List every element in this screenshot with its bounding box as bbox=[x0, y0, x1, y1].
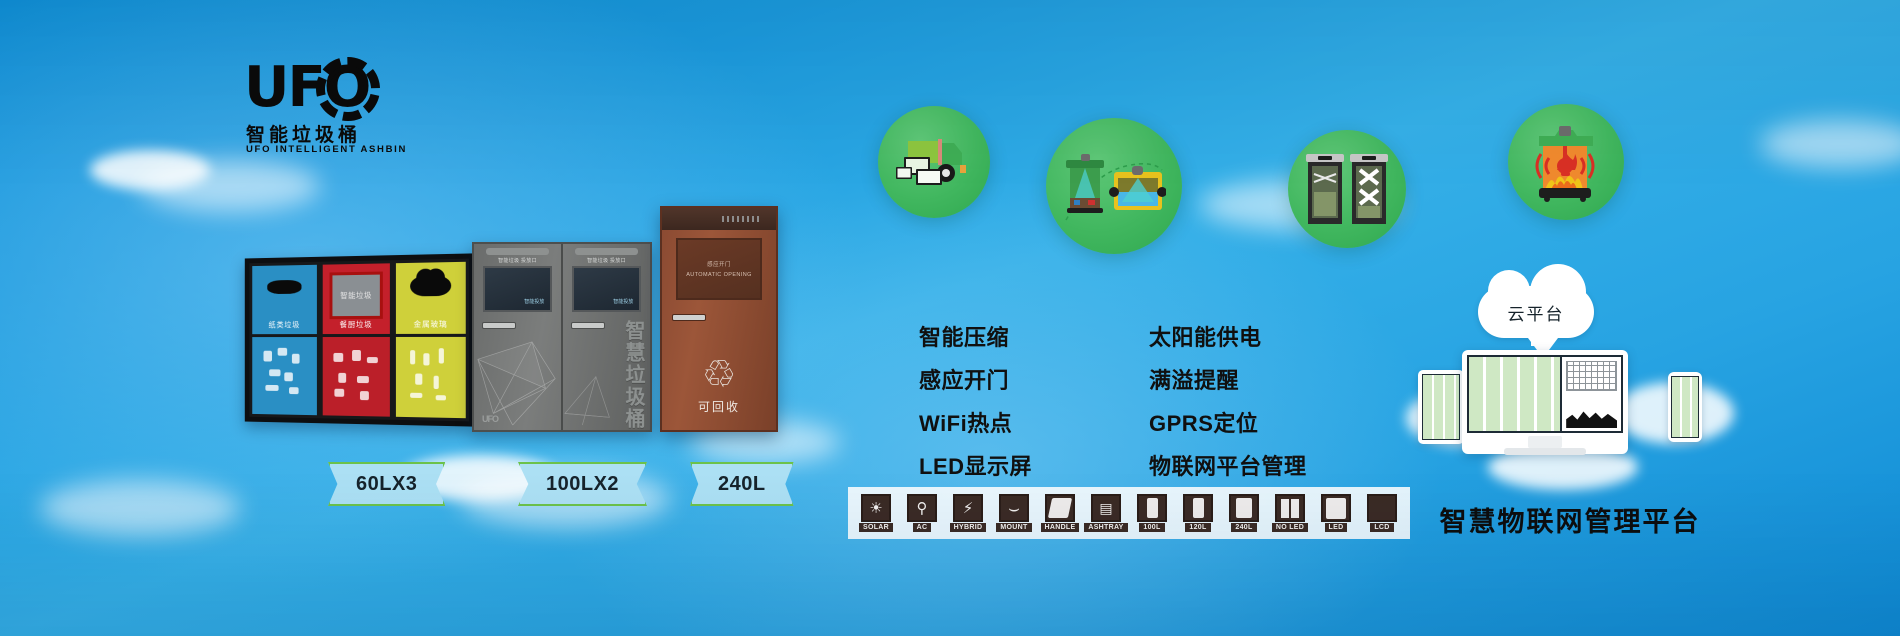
capacity-banner-60lx3: 60LX3 bbox=[328, 462, 445, 506]
bin-cap bbox=[486, 248, 549, 255]
compartment-label: 餐厨垃圾 bbox=[323, 319, 390, 330]
spec-icon-strip: ☀ SOLAR ⚲ AC ⚡ HYBRID ⌣ MOUNT HANDLE ▤ A… bbox=[848, 487, 1410, 539]
garbage-truck-and-devices-icon bbox=[894, 131, 974, 193]
feature-label: 物联网平台管理 bbox=[1149, 449, 1307, 481]
logo-chinese-name: 智能垃圾桶 bbox=[246, 120, 361, 147]
twin-bin-compaction-icon bbox=[1304, 150, 1390, 228]
bin-handle bbox=[672, 314, 706, 321]
bin-cap bbox=[575, 248, 638, 255]
wall-mount-icon: ⌣ bbox=[1008, 499, 1020, 517]
feature-item: 感应开门 bbox=[884, 363, 1032, 395]
spec-icon-ac: ⚲ AC bbox=[902, 494, 942, 532]
spec-icon-label: AC bbox=[913, 523, 932, 532]
waste-glyphs bbox=[323, 337, 390, 417]
bin-display: 智能投放 bbox=[483, 266, 553, 312]
bin-micro-label: 智能垃圾 投放口 bbox=[563, 257, 650, 264]
sun-icon: ☀ bbox=[869, 501, 882, 516]
bin-half-right: 智能垃圾 投放口 智能投放 智慧垃圾桶 bbox=[563, 244, 650, 430]
spec-icon-no-led: NO LED bbox=[1270, 494, 1310, 532]
spec-icon-label: SOLAR bbox=[859, 523, 893, 532]
monitor-icon bbox=[1114, 414, 1133, 431]
spec-icon-120l: 120L bbox=[1178, 494, 1218, 532]
fire-alarm-bin-icon bbox=[1527, 122, 1605, 202]
spec-icon-led: LED bbox=[1316, 494, 1356, 532]
spec-icon-label: MOUNT bbox=[996, 523, 1031, 532]
capacity-label: 240L bbox=[718, 473, 766, 496]
ashtray-icon: ▤ bbox=[1099, 501, 1112, 515]
spec-icon-label: 100L bbox=[1139, 523, 1164, 532]
bin-display-text: 智能投放 bbox=[524, 298, 544, 305]
product-bin-double: 智能垃圾 投放口 智能投放 UFO 智能垃圾 投放口 bbox=[472, 242, 652, 432]
spec-icon-label: LCD bbox=[1370, 523, 1393, 532]
cloud-decor bbox=[90, 150, 210, 190]
monitor-device bbox=[1462, 350, 1628, 454]
feature-label: 智能压缩 bbox=[919, 320, 1009, 352]
feature-label: WiFi热点 bbox=[919, 406, 1012, 438]
feature-column-left: 智能压缩 感应开门 WiFi热点 LED显示屏 bbox=[884, 320, 1032, 481]
platform-title: 智慧物联网管理平台 bbox=[1400, 500, 1740, 539]
bin-top-bar bbox=[662, 208, 776, 230]
feature-list: 智能压缩 感应开门 WiFi热点 LED显示屏 太阳能供电 满溢提醒 bbox=[884, 320, 1307, 481]
compartment-label: 纸类垃圾 bbox=[252, 319, 317, 330]
brand-logo: UFO 智能垃圾桶 UFO INTELLIGENT ASHBIN bbox=[244, 60, 404, 162]
handle-icon bbox=[1048, 498, 1072, 518]
waste-glyphs bbox=[396, 337, 466, 418]
feature-circle-fill-level bbox=[1046, 118, 1182, 254]
hybrid-power-icon: ⚡ bbox=[963, 501, 974, 516]
feature-label: LED显示屏 bbox=[919, 449, 1032, 481]
monitor-icon bbox=[884, 457, 903, 474]
grill-icon bbox=[722, 216, 762, 222]
feature-item: 物联网平台管理 bbox=[1114, 449, 1307, 481]
cloud-icon: 云平台 bbox=[1478, 286, 1594, 338]
spec-icon-label: LED bbox=[1325, 523, 1348, 532]
spec-icon-label: 120L bbox=[1185, 523, 1210, 532]
feature-item: GPRS定位 bbox=[1114, 406, 1307, 438]
spec-icon-lcd: LCD bbox=[1362, 494, 1402, 532]
feature-circle-fleet bbox=[878, 106, 990, 218]
spec-icon-label: NO LED bbox=[1272, 523, 1308, 532]
compartment-screen-text: 智能垃圾 bbox=[340, 290, 372, 301]
oval-slot-icon bbox=[267, 280, 302, 294]
cloud-decor bbox=[40, 480, 240, 536]
feature-label: 太阳能供电 bbox=[1149, 320, 1262, 352]
bin-compartment-paper: 纸类垃圾 bbox=[252, 265, 317, 415]
bin-compartment-kitchen: 智能垃圾 餐厨垃圾 bbox=[323, 263, 390, 416]
compartment-screen: 智能垃圾 bbox=[329, 272, 383, 319]
cloud-decor bbox=[1760, 120, 1900, 168]
promo-banner: UFO 智能垃圾桶 UFO INTELLIGENT ASHBIN 纸类垃圾 bbox=[0, 0, 1900, 636]
feature-item: 满溢提醒 bbox=[1114, 363, 1307, 395]
monitor-icon bbox=[884, 414, 903, 431]
phone-device bbox=[1668, 372, 1702, 442]
feature-label: GPRS定位 bbox=[1149, 406, 1258, 438]
cloud-platform-illustration: 云平台 bbox=[1418, 286, 1718, 486]
capacity-label: 60LX3 bbox=[356, 473, 417, 496]
monitor-icon bbox=[1114, 457, 1133, 474]
feature-item: WiFi热点 bbox=[884, 406, 1032, 438]
bin-100l-icon bbox=[1147, 498, 1158, 518]
logo-english-tagline: UFO INTELLIGENT ASHBIN bbox=[246, 144, 407, 155]
capacity-label: 100LX2 bbox=[546, 473, 619, 496]
bin-screen-line2: AUTOMATIC OPENING bbox=[686, 272, 752, 278]
recycle-label: 可回收 bbox=[662, 398, 776, 415]
bin-240l-icon bbox=[1236, 498, 1252, 518]
feature-item: 太阳能供电 bbox=[1114, 320, 1307, 352]
map-view bbox=[1469, 357, 1560, 431]
no-led-icon bbox=[1281, 499, 1299, 518]
spec-icon-label: HANDLE bbox=[1041, 523, 1080, 532]
bin-fill-sensor-icon bbox=[1062, 148, 1166, 224]
feature-circle-fire-alarm bbox=[1508, 104, 1624, 220]
cloud-decor bbox=[140, 160, 320, 212]
spec-icon-handle: HANDLE bbox=[1040, 494, 1080, 532]
tablet-device bbox=[1418, 370, 1464, 444]
bin-screen-line1: 感应开门 bbox=[707, 260, 731, 268]
spec-icon-ashtray: ▤ ASHTRAY bbox=[1086, 494, 1126, 532]
spec-icon-hybrid: ⚡ HYBRID bbox=[948, 494, 988, 532]
bin-half-left: 智能垃圾 投放口 智能投放 UFO bbox=[474, 244, 563, 430]
monitor-icon bbox=[1114, 371, 1133, 388]
feature-item: 智能压缩 bbox=[884, 320, 1032, 352]
bin-compartment-metal-glass: 金属玻璃 bbox=[396, 262, 466, 418]
capacity-banner-100lx2: 100LX2 bbox=[518, 462, 647, 506]
waste-glyphs bbox=[252, 337, 317, 415]
spec-icon-solar: ☀ SOLAR bbox=[856, 494, 896, 532]
monitor-icon bbox=[884, 371, 903, 388]
feature-column-right: 太阳能供电 满溢提醒 GPRS定位 物联网平台管理 bbox=[1114, 320, 1307, 481]
capacity-banner-240l: 240L bbox=[690, 462, 794, 506]
product-bin-brown: 感应开门 AUTOMATIC OPENING ♲ 可回收 bbox=[660, 206, 778, 432]
recycle-icon: ♲ bbox=[662, 356, 776, 394]
cloud-slot-icon bbox=[410, 275, 452, 296]
spec-icon-240l: 240L bbox=[1224, 494, 1264, 532]
bin-display-text: 智能投放 bbox=[613, 298, 633, 305]
monitor-icon bbox=[884, 328, 903, 345]
spec-icon-label: HYBRID bbox=[950, 523, 987, 532]
feature-circle-compaction bbox=[1288, 130, 1406, 248]
feature-label: 感应开门 bbox=[919, 363, 1009, 395]
product-bin-triple: 纸类垃圾 智能垃圾 bbox=[245, 253, 474, 426]
charts-view bbox=[1560, 357, 1621, 431]
spec-icon-label: 240L bbox=[1231, 523, 1256, 532]
monitor-icon bbox=[1114, 328, 1133, 345]
bin-display: 智能投放 bbox=[572, 266, 642, 312]
spec-icon-label: ASHTRAY bbox=[1084, 523, 1127, 532]
led-panel-icon bbox=[1326, 498, 1346, 519]
power-plug-icon: ⚲ bbox=[917, 501, 928, 516]
bin-screen: 感应开门 AUTOMATIC OPENING bbox=[676, 238, 763, 300]
feature-item: LED显示屏 bbox=[884, 449, 1032, 481]
spec-icon-100l: 100L bbox=[1132, 494, 1172, 532]
ufo-ring-inner-icon bbox=[329, 70, 367, 108]
polygon-decor bbox=[563, 318, 650, 430]
feature-label: 满溢提醒 bbox=[1149, 363, 1239, 395]
cloud-platform-label: 云平台 bbox=[1508, 300, 1565, 325]
bin-brand-mark: UFO bbox=[482, 414, 498, 424]
bin-120l-icon bbox=[1193, 498, 1204, 518]
bin-micro-label: 智能垃圾 投放口 bbox=[474, 257, 561, 264]
spec-icon-mount: ⌣ MOUNT bbox=[994, 494, 1034, 532]
compartment-label: 金属玻璃 bbox=[396, 318, 466, 330]
